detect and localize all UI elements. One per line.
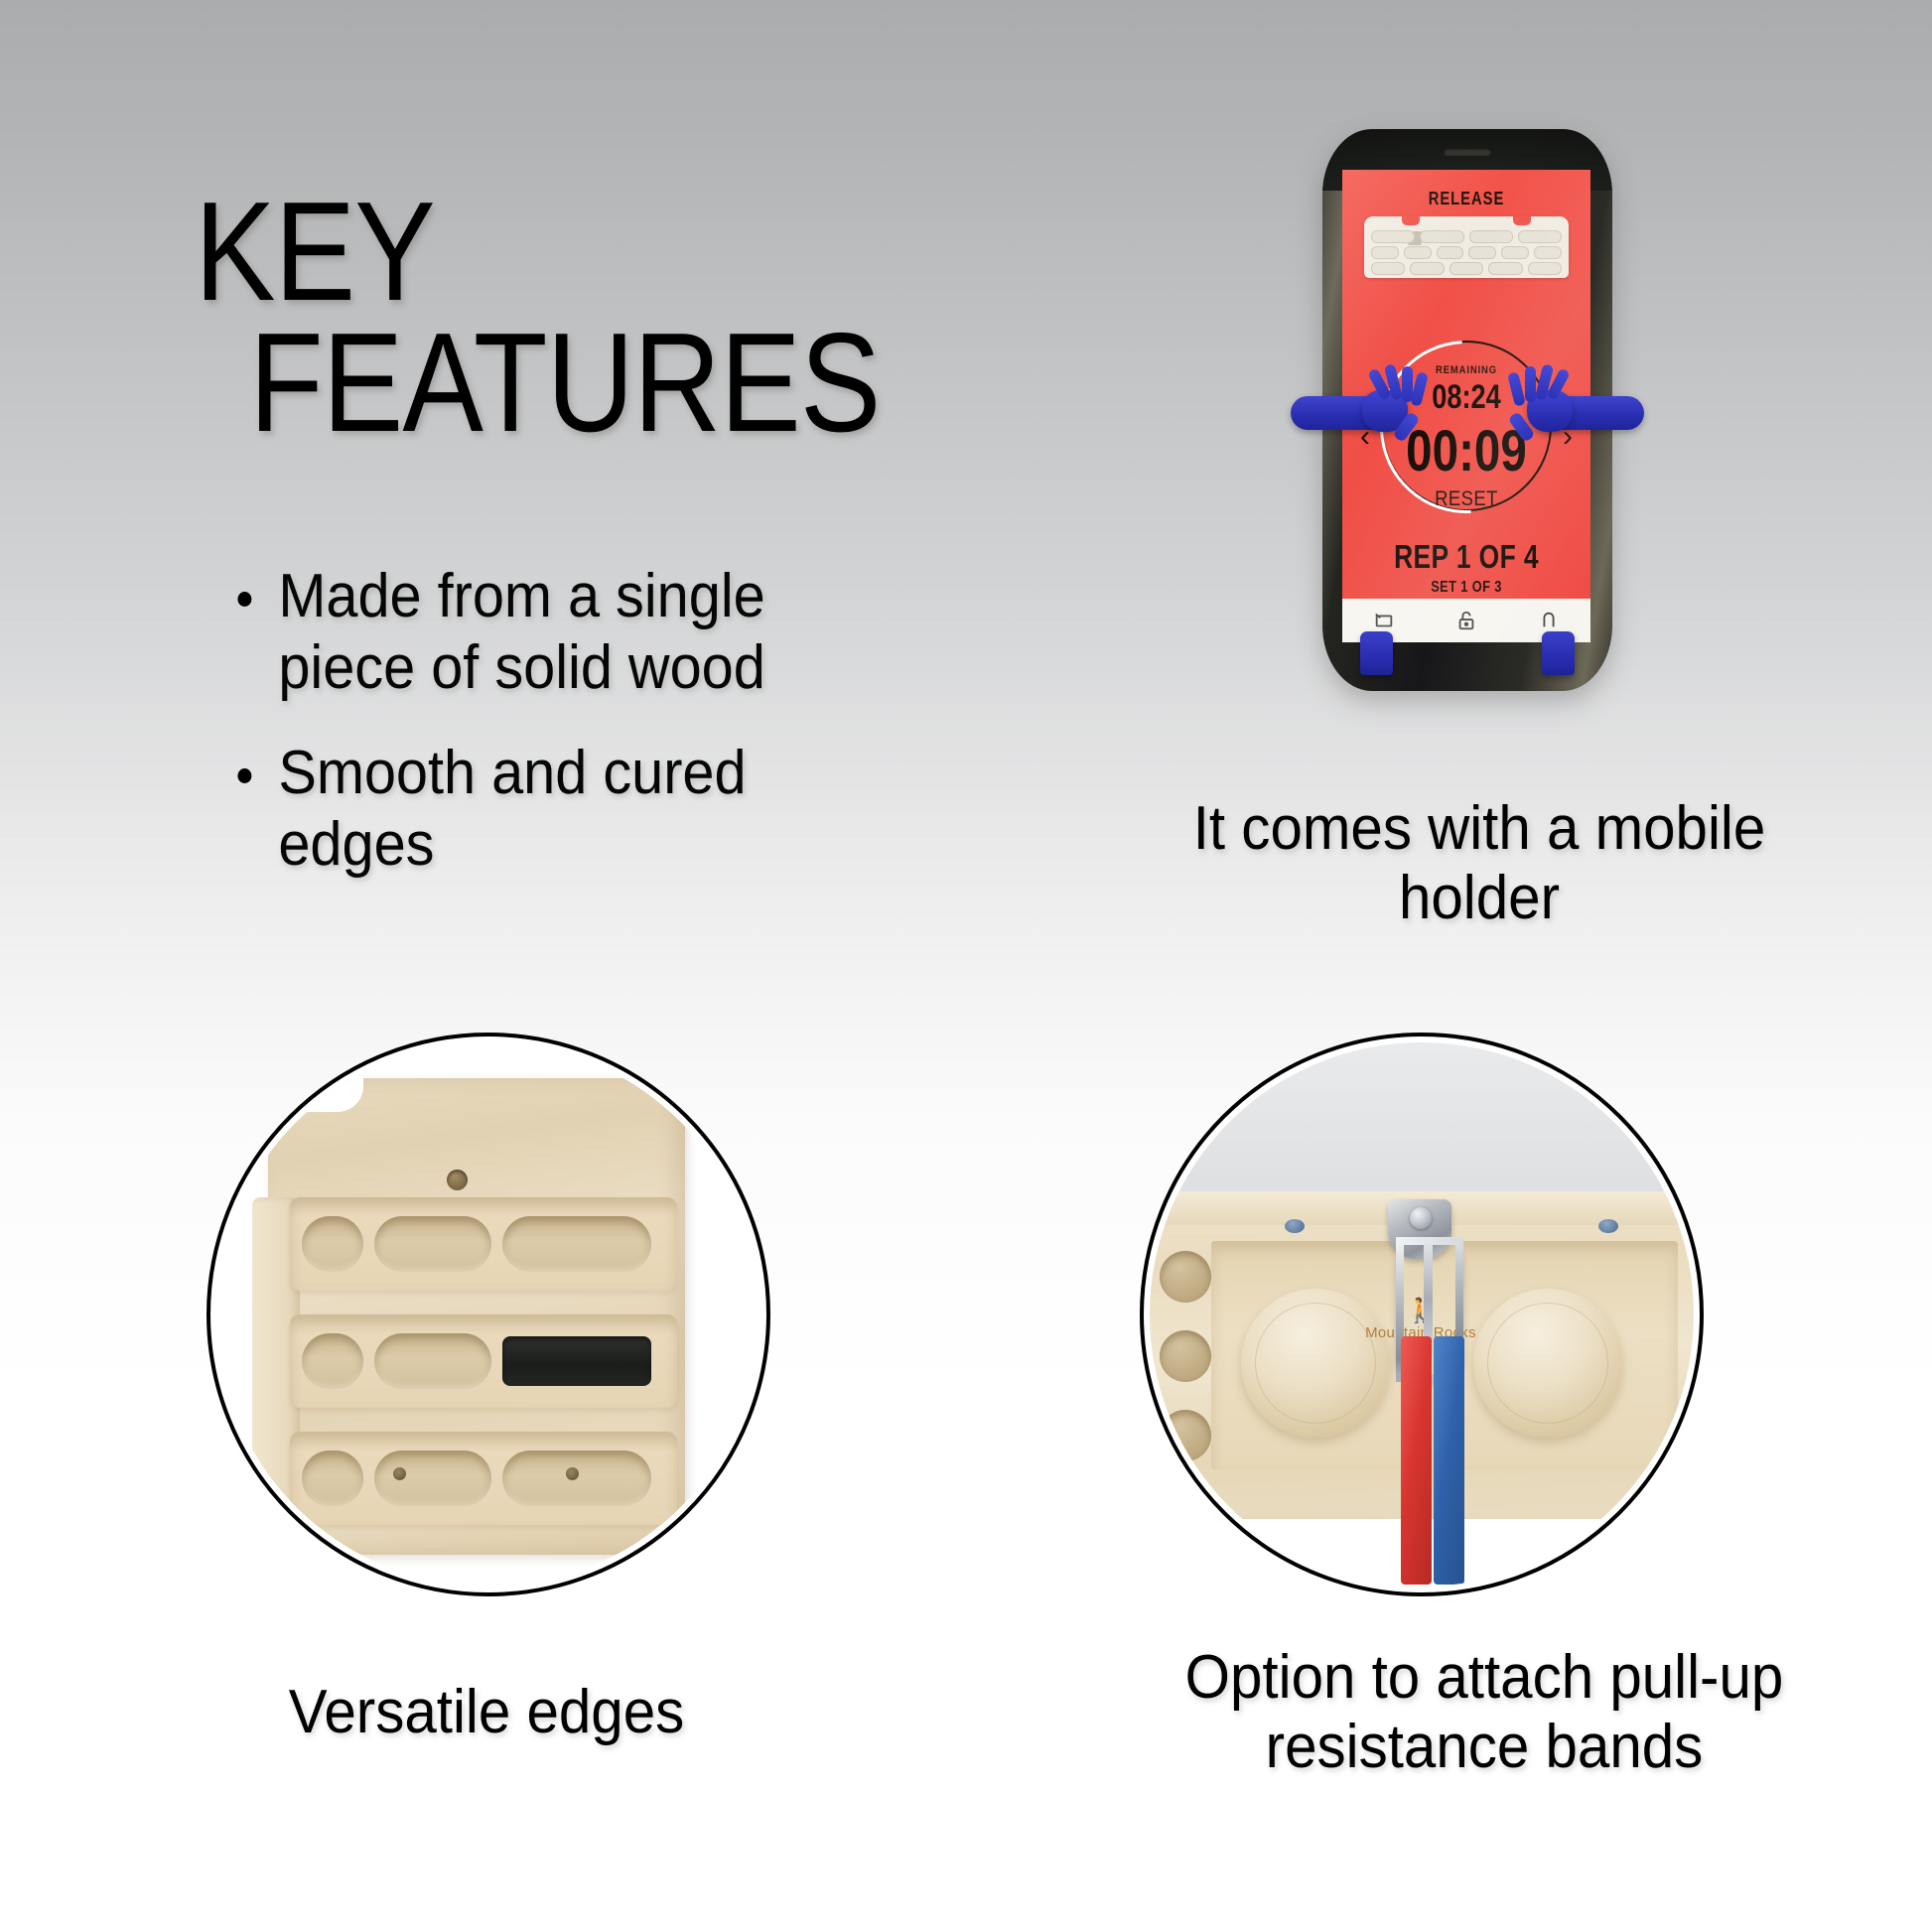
drill-hole [447,1170,468,1190]
list-item: Made from a single piece of solid wood [230,561,896,704]
board-pocket [1420,230,1463,243]
mobile-holder-bottom-clip-right [1542,631,1575,675]
resistance-band-red [1401,1336,1432,1585]
mobile-holder-bottom-clip-left [1360,631,1393,675]
mounting-screw [1285,1219,1305,1233]
bullet-icon [237,592,251,607]
feature-list: Made from a single piece of solid wood S… [230,561,945,914]
screen-rotate-icon[interactable] [1373,610,1395,631]
board-notch [1402,216,1420,225]
feature-text: Made from a single piece of solid wood [278,562,764,702]
board-pocket [1437,246,1464,259]
board-row [1371,246,1562,259]
clip-finger [1525,366,1536,402]
board-pocket [1488,262,1522,275]
board-pocket [1160,1330,1211,1382]
board-pocket [1469,230,1513,243]
mounting-screw [1598,1219,1618,1233]
board-pocket [1518,230,1562,243]
phone-mockup: RELEASE [1309,129,1626,695]
unlock-icon[interactable] [1455,610,1477,631]
board-pocket [1160,1410,1211,1461]
board-pocket [374,1216,491,1272]
settings-icon[interactable] [1538,610,1560,631]
board-ledge-row [290,1432,677,1525]
board-pocket [302,1216,363,1272]
board-pocket [1404,246,1432,259]
board-pocket [302,1450,363,1506]
hangboard-diagram-icon [1364,216,1569,278]
resistance-band-blue [1434,1336,1464,1585]
board-pocket [1371,230,1415,243]
app-header-label: RELEASE [1365,189,1569,209]
board-ledge-row [290,1197,677,1291]
set-counter-label: SET 1 OF 3 [1367,579,1566,597]
board-pocket [1449,262,1483,275]
sloper-hold [1473,1289,1622,1438]
photo-circle-versatile-edges [207,1033,770,1596]
bracket-bolt [1410,1207,1432,1229]
caption-mobile-holder: It comes with a mobile holder [1162,794,1796,933]
phone-speaker [1444,148,1491,156]
caption-versatile-edges: Versatile edges [141,1678,832,1747]
board-row [1371,262,1562,275]
rubber-insert [502,1336,651,1386]
page-title: KEY FEATURES [195,187,963,449]
reset-button[interactable]: RESET [1357,487,1576,511]
board-pocket [1501,246,1529,259]
hangboard-photo [268,1078,685,1555]
board-pocket [1534,246,1562,259]
board-pocket [1371,262,1405,275]
photo-inner: 🚶 Mountain Rocks [1150,1042,1694,1587]
board-pocket [1160,1251,1211,1303]
board-pocket [1410,262,1444,275]
board-pocket [502,1216,651,1272]
feature-text: Smooth and cured edges [278,739,746,879]
board-pocket [1528,262,1562,275]
board-ledge-row [290,1314,677,1408]
caption-resistance-bands: Option to attach pull-up resistance band… [1149,1643,1821,1782]
bullet-icon [237,768,251,783]
photo-circle-resistance-bands: 🚶 Mountain Rocks [1140,1033,1704,1596]
mobile-holder-clip-right [1485,372,1644,448]
board-row [1371,230,1562,243]
rep-counter-label: REP 1 OF 4 [1367,538,1566,576]
list-item: Smooth and cured edges [230,738,896,881]
clip-finger [1507,371,1526,407]
title-line-2: FEATURES [195,318,963,449]
board-pocket [374,1450,491,1506]
photo-inner [216,1042,760,1587]
board-pocket [374,1333,491,1389]
board-pocket [302,1333,363,1389]
board-notch [1513,216,1531,225]
board-top-notch [290,1076,363,1112]
mounting-screw [393,1467,406,1480]
board-pocket [1468,246,1496,259]
board-pocket [1371,246,1399,259]
mounting-screw [566,1467,579,1480]
mobile-holder-clip-left [1291,372,1449,448]
